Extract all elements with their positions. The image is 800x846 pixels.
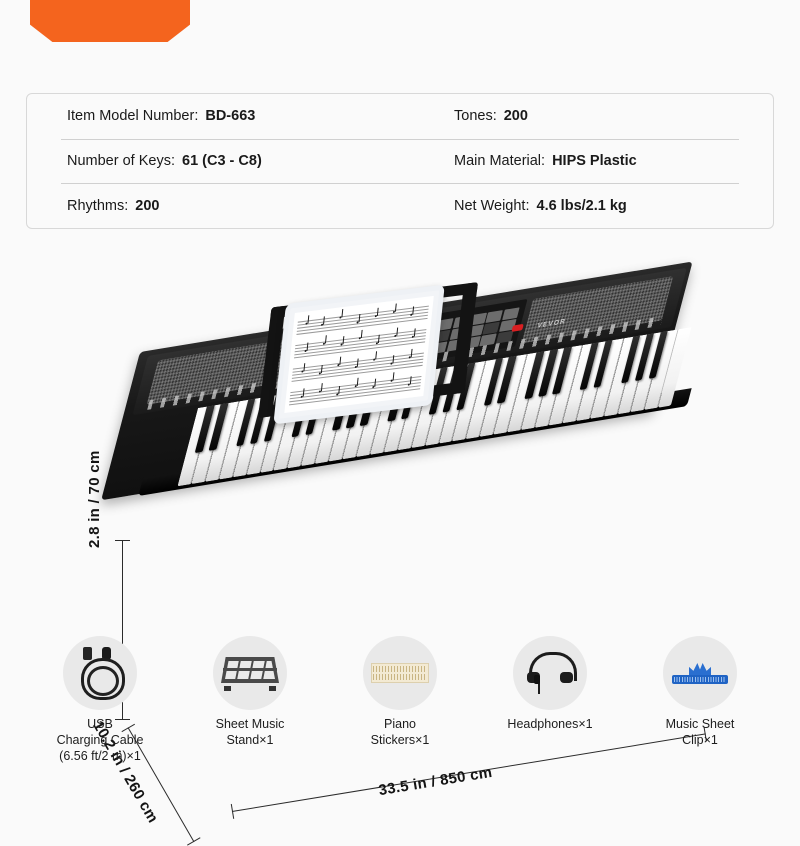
accessory-label: Sheet Music Stand×1	[216, 717, 285, 749]
tablet-device	[273, 285, 444, 425]
spec-row: Item Model Number: BD-663 Tones: 200	[27, 94, 773, 139]
spec-cell-keys: Number of Keys: 61 (C3 - C8)	[27, 153, 386, 169]
accessory-label: USB Charging Cable (6.56 ft/2 m)×1	[57, 717, 144, 765]
spec-label: Main Material:	[454, 153, 545, 169]
accessory-item-piano-stickers: Piano Stickers×1	[337, 636, 463, 796]
accessory-icon-circle	[513, 636, 587, 710]
panel-button	[483, 322, 501, 335]
panel-button	[502, 307, 520, 320]
panel-button	[486, 310, 504, 323]
piano-stickers-icon	[371, 663, 429, 683]
accessory-item-sheet-music-stand: Sheet Music Stand×1	[187, 636, 313, 796]
spec-cell-tones: Tones: 200	[386, 108, 773, 124]
spec-value: 200	[504, 108, 528, 124]
spec-label: Rhythms:	[67, 198, 128, 214]
spec-value: BD-663	[205, 108, 255, 124]
accessory-item-music-sheet-clip: Music Sheet Clip×1	[637, 636, 763, 796]
spec-value: 200	[135, 198, 159, 214]
product-photo: 2.8 in / 70 cm 10.2 in / 260 cm 33.5 in …	[0, 240, 800, 625]
spec-value: 4.6 lbs/2.1 kg	[537, 198, 627, 214]
spec-row: Number of Keys: 61 (C3 - C8) Main Materi…	[27, 139, 773, 184]
usb-cable-icon	[74, 646, 126, 700]
power-button	[511, 324, 524, 332]
accessories-row: USB Charging Cable (6.56 ft/2 m)×1 Sheet…	[0, 636, 800, 796]
keyboard-illustration: VEVOR	[140, 300, 730, 600]
accessory-icon-circle	[663, 636, 737, 710]
headphones-icon	[525, 648, 575, 698]
music-sheet-clip-icon	[672, 658, 728, 688]
spec-cell-rhythms: Rhythms: 200	[27, 198, 386, 214]
orange-corner-banner	[30, 0, 190, 42]
spec-cell-material: Main Material: HIPS Plastic	[386, 153, 773, 169]
accessory-item-usb-cable: USB Charging Cable (6.56 ft/2 m)×1	[37, 636, 163, 796]
spec-value: 61 (C3 - C8)	[182, 153, 262, 169]
sheet-music-stand-icon	[221, 653, 279, 693]
accessory-label: Piano Stickers×1	[371, 717, 430, 749]
accessory-icon-circle	[63, 636, 137, 710]
spec-cell-weight: Net Weight: 4.6 lbs/2.1 kg	[386, 198, 773, 214]
spec-label: Net Weight:	[454, 198, 530, 214]
spec-row: Rhythms: 200 Net Weight: 4.6 lbs/2.1 kg	[27, 183, 773, 228]
accessory-label: Headphones×1	[507, 717, 592, 733]
spec-label: Item Model Number:	[67, 108, 198, 124]
accessory-icon-circle	[363, 636, 437, 710]
spec-label: Tones:	[454, 108, 497, 124]
accessory-icon-circle	[213, 636, 287, 710]
spec-value: HIPS Plastic	[552, 153, 637, 169]
spec-cell-model: Item Model Number: BD-663	[27, 108, 386, 124]
specification-table: Item Model Number: BD-663 Tones: 200 Num…	[26, 93, 774, 229]
accessory-label: Music Sheet Clip×1	[666, 717, 735, 749]
spec-label: Number of Keys:	[67, 153, 175, 169]
sheet-music-score	[284, 296, 433, 413]
height-dimension-label: 2.8 in / 70 cm	[86, 450, 103, 548]
accessory-item-headphones: Headphones×1	[487, 636, 613, 796]
product-detail-image: Item Model Number: BD-663 Tones: 200 Num…	[0, 0, 800, 800]
